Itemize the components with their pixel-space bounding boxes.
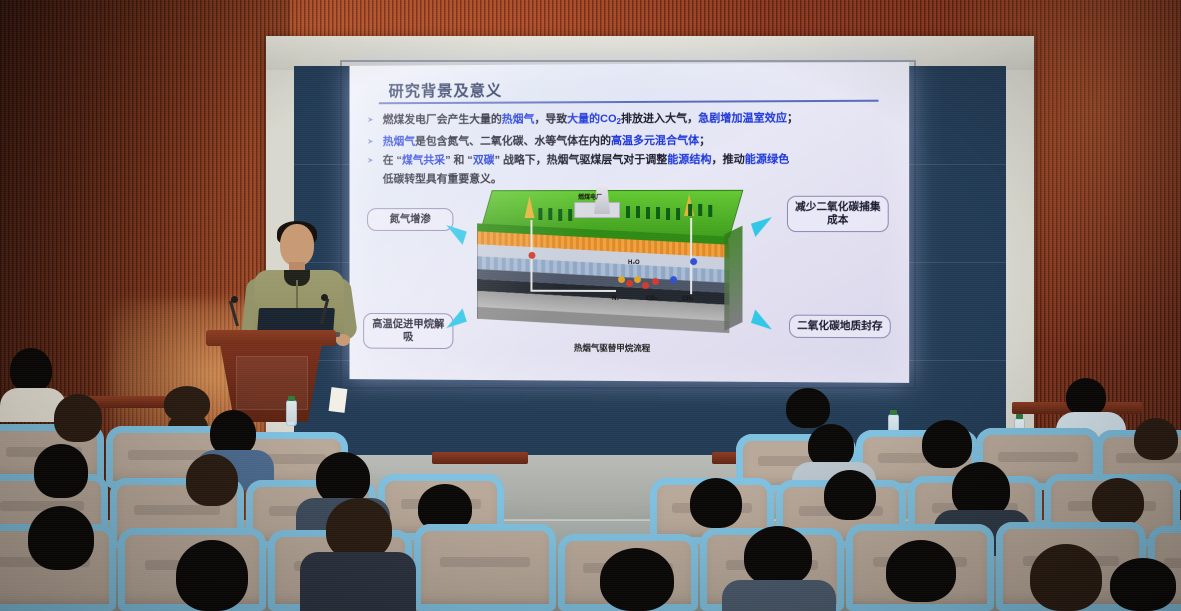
audience-head — [922, 420, 972, 468]
microphone-icon-left — [231, 296, 238, 303]
audience-head — [1134, 418, 1178, 460]
audience-head — [316, 452, 370, 504]
microphone-icon-right — [321, 294, 328, 301]
audience-head — [1092, 478, 1144, 526]
water-bottle-left — [286, 400, 297, 426]
seat[interactable] — [414, 524, 556, 611]
audience-head — [34, 444, 88, 498]
audience-head — [28, 506, 94, 570]
front-desk-left — [432, 452, 528, 464]
audience-head — [690, 478, 742, 528]
screenshot-root: 研究背景及意义 燃煤发电厂会产生大量的热烟气，导致大量的CO2排放进入大气，急剧… — [0, 0, 1181, 611]
podium-front-panel — [236, 356, 308, 410]
paper-sheet — [329, 387, 348, 413]
audience-head — [176, 540, 248, 611]
presenter-head — [280, 224, 314, 266]
audience-head — [326, 498, 392, 560]
audience-head — [10, 348, 52, 392]
audience-head — [54, 394, 102, 442]
audience-head — [1066, 378, 1106, 416]
audience-body — [300, 552, 416, 611]
audience-body — [722, 580, 836, 611]
audience-head — [600, 548, 674, 611]
podium-top — [206, 330, 336, 346]
audience-head — [744, 526, 812, 586]
audience-head — [186, 454, 238, 506]
audience-head — [886, 540, 956, 602]
audience-head — [786, 388, 830, 428]
audience-head — [1110, 558, 1176, 611]
audience-head — [1030, 544, 1102, 611]
screen-border — [340, 60, 916, 389]
audience-head — [824, 470, 876, 520]
